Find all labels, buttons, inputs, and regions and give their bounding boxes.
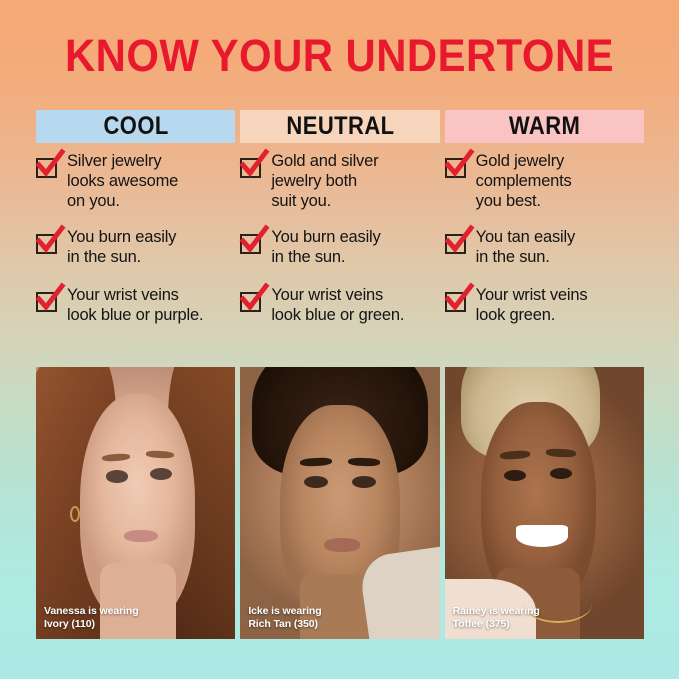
- checklist-columns: Silver jewelry looks awesome on you. You…: [36, 152, 644, 352]
- checkmark-icon: [445, 155, 468, 178]
- checklist-item: You burn easily in the sun.: [240, 228, 439, 268]
- checklist-item: Your wrist veins look blue or purple.: [36, 286, 235, 326]
- column-header-warm: WARM: [445, 110, 644, 143]
- checklist-item-text: You burn easily in the sun.: [67, 228, 176, 268]
- checkmark-icon: [240, 155, 263, 178]
- infographic-page: KNOW YOUR UNDERTONE COOL NEUTRAL WARM Si…: [0, 0, 679, 679]
- checklist-item: You burn easily in the sun.: [36, 228, 235, 268]
- column-header-warm-label: WARM: [509, 112, 580, 141]
- checklist-item: Gold and silver jewelry both suit you.: [240, 152, 439, 211]
- text-line: jewelry both: [271, 172, 378, 192]
- text-line: You burn easily: [67, 228, 176, 248]
- checklist-column-neutral: Gold and silver jewelry both suit you. Y…: [240, 152, 439, 352]
- text-line: on you.: [67, 192, 178, 212]
- text-line: looks awesome: [67, 172, 178, 192]
- checklist-item-text: You burn easily in the sun.: [271, 228, 380, 268]
- checklist-item: Your wrist veins look green.: [445, 286, 644, 326]
- caption-line: Ivory (110): [44, 618, 139, 631]
- checkmark-icon: [36, 155, 59, 178]
- checklist-item: Silver jewelry looks awesome on you.: [36, 152, 235, 211]
- caption-line: Icke is wearing: [248, 605, 321, 618]
- text-line: You tan easily: [476, 228, 575, 248]
- photo-caption: Icke is wearing Rich Tan (350): [248, 605, 321, 631]
- text-line: suit you.: [271, 192, 378, 212]
- text-line: in the sun.: [271, 248, 380, 268]
- text-line: you best.: [476, 192, 572, 212]
- model-photo-icke: Icke is wearing Rich Tan (350): [240, 367, 439, 639]
- text-line: Your wrist veins: [271, 286, 404, 306]
- checklist-item: Gold jewelry complements you best.: [445, 152, 644, 211]
- checklist-item-text: Your wrist veins look green.: [476, 286, 588, 326]
- checkmark-icon: [36, 231, 59, 254]
- caption-line: Vanessa is wearing: [44, 605, 139, 618]
- column-header-cool: COOL: [36, 110, 235, 143]
- caption-line: Rainey is wearing: [453, 605, 540, 618]
- text-line: You burn easily: [271, 228, 380, 248]
- text-line: complements: [476, 172, 572, 192]
- checkmark-icon: [240, 231, 263, 254]
- text-line: in the sun.: [67, 248, 176, 268]
- text-line: look green.: [476, 306, 588, 326]
- text-line: Gold jewelry: [476, 152, 572, 172]
- checkmark-icon: [445, 231, 468, 254]
- undertone-header-row: COOL NEUTRAL WARM: [36, 110, 644, 143]
- checklist-column-cool: Silver jewelry looks awesome on you. You…: [36, 152, 235, 352]
- page-title: KNOW YOUR UNDERTONE: [24, 33, 655, 78]
- text-line: Your wrist veins: [67, 286, 203, 306]
- text-line: look blue or green.: [271, 306, 404, 326]
- checklist-column-warm: Gold jewelry complements you best. You t…: [445, 152, 644, 352]
- model-photo-vanessa: Vanessa is wearing Ivory (110): [36, 367, 235, 639]
- checkmark-icon: [36, 289, 59, 312]
- checklist-item-text: Gold jewelry complements you best.: [476, 152, 572, 211]
- checkmark-icon: [445, 289, 468, 312]
- checklist-item-text: Your wrist veins look blue or green.: [271, 286, 404, 326]
- photo-caption: Rainey is wearing Toffee (375): [453, 605, 540, 631]
- text-line: Your wrist veins: [476, 286, 588, 306]
- caption-line: Toffee (375): [453, 618, 540, 631]
- text-line: Silver jewelry: [67, 152, 178, 172]
- checklist-item-text: You tan easily in the sun.: [476, 228, 575, 268]
- column-header-neutral-label: NEUTRAL: [286, 112, 394, 141]
- model-photo-rainey: Rainey is wearing Toffee (375): [445, 367, 644, 639]
- checkmark-icon: [240, 289, 263, 312]
- column-header-cool-label: COOL: [103, 112, 168, 141]
- model-photo-row: Vanessa is wearing Ivory (110) Icke is w…: [36, 367, 644, 639]
- checklist-item-text: Silver jewelry looks awesome on you.: [67, 152, 178, 211]
- photo-caption: Vanessa is wearing Ivory (110): [44, 605, 139, 631]
- text-line: Gold and silver: [271, 152, 378, 172]
- text-line: in the sun.: [476, 248, 575, 268]
- checklist-item: You tan easily in the sun.: [445, 228, 644, 268]
- column-header-neutral: NEUTRAL: [240, 110, 439, 143]
- caption-line: Rich Tan (350): [248, 618, 321, 631]
- text-line: look blue or purple.: [67, 306, 203, 326]
- checklist-item: Your wrist veins look blue or green.: [240, 286, 439, 326]
- checklist-item-text: Your wrist veins look blue or purple.: [67, 286, 203, 326]
- checklist-item-text: Gold and silver jewelry both suit you.: [271, 152, 378, 211]
